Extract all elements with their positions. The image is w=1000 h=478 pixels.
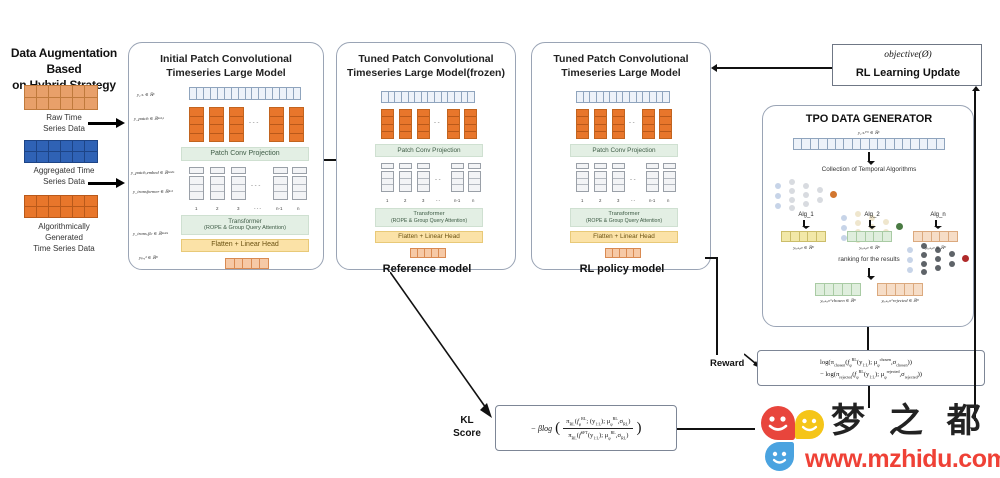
kl-formula-box[interactable]: − βlog ( πRL(fφRL; (y1:L); μφRL,σRL) πRL… bbox=[495, 405, 677, 451]
embed-column bbox=[417, 171, 430, 192]
rl-policy-model-panel[interactable]: Tuned Patch Convolutional Timeseries Lar… bbox=[531, 42, 711, 270]
embed-cap bbox=[292, 167, 307, 174]
raw-time-series-grid-row2 bbox=[24, 98, 98, 110]
tpo-data-generator-panel[interactable]: TPO DATA GENERATOR y₁:ʟᴾᴼ ∈ ℝᴸ Collectio… bbox=[762, 105, 974, 327]
patch-column bbox=[229, 107, 244, 142]
algorithmic-grid-row1 bbox=[24, 195, 98, 207]
input-tensor-label: y₁:ʟ ∈ ℝᴸ bbox=[137, 92, 155, 98]
nn-hidden-node bbox=[789, 205, 795, 211]
reward-formula-line2: − log(πrejected(fφRL(y1:L); μφrejected,σ… bbox=[820, 369, 922, 380]
embed-ellipsis: - - - bbox=[251, 183, 260, 189]
token-index: n bbox=[297, 206, 300, 211]
feedback-to-rl-update-arrow bbox=[974, 86, 980, 421]
embed-ellipsis: - - bbox=[630, 177, 636, 183]
tpo-input-label: y₁:ʟᴾᴼ ∈ ℝᴸ bbox=[763, 130, 975, 136]
embed-cap bbox=[381, 163, 394, 169]
embed-column bbox=[273, 176, 288, 200]
embed-cap bbox=[189, 167, 204, 174]
token-index: 3 bbox=[617, 198, 619, 203]
token-index-ellipsis: - - bbox=[631, 198, 635, 203]
raw-time-series-item bbox=[24, 85, 98, 110]
reward-caption: Reward bbox=[710, 358, 744, 369]
transformer-band-line2: (ROPE & Group Query Attention) bbox=[391, 218, 467, 225]
rejected-result-label: yᵣₑₛᵤₗₜ^rejected ∈ ℝᴴ bbox=[871, 298, 929, 304]
algorithm-2-name: Alg_2 bbox=[841, 212, 903, 218]
input-sequence-strip bbox=[381, 91, 475, 103]
algorithm-n-name: Alg_n bbox=[907, 212, 969, 218]
model-output-strip bbox=[605, 248, 641, 258]
algorithmic-label-line1: Algorithmically bbox=[0, 222, 128, 233]
nn-hidden-node bbox=[935, 265, 941, 271]
model-output-strip bbox=[225, 258, 269, 269]
rl-policy-model-title: Tuned Patch Convolutional Timeseries Lar… bbox=[532, 52, 710, 80]
policy-to-reward-vertical bbox=[716, 257, 718, 355]
algorithm-n-result-label: yᵣₑₛᵤₗₜ ∈ ℝᴴ bbox=[913, 245, 958, 251]
blue-face-glyph bbox=[765, 442, 794, 471]
patch-column bbox=[189, 107, 204, 142]
augmentation-to-model-arrow-top bbox=[88, 118, 125, 128]
embed-column bbox=[381, 171, 394, 192]
kl-formula: − βlog ( πRL(fφRL; (y1:L); μφRL,σRL) πRL… bbox=[531, 416, 642, 440]
algorithm-1-result-label: yᵣₑₛᵤₗₜ ∈ ℝᴴ bbox=[781, 245, 826, 251]
patch-columns-row: - - bbox=[381, 109, 475, 139]
patch-column bbox=[576, 109, 589, 139]
red-face-glyph bbox=[761, 406, 795, 440]
transformer-band-line2: (ROPE & Group Query Attention) bbox=[586, 218, 662, 225]
token-index-ellipsis: - - bbox=[436, 198, 440, 203]
embed-cap bbox=[399, 163, 412, 169]
watermark-yellow-face-icon bbox=[795, 410, 824, 439]
reference-model-title-line2: Timeseries Large Model(frozen) bbox=[337, 66, 515, 80]
nn-input-node bbox=[775, 193, 781, 199]
flatten-linear-head-band: Flatten + Linear Head bbox=[570, 231, 678, 243]
kl-to-right-connector bbox=[677, 428, 755, 430]
reference-model-title-line1: Tuned Patch Convolutional bbox=[337, 52, 515, 66]
token-index: n-1 bbox=[276, 206, 283, 211]
watermark-url-text: www.mzhidu.com bbox=[805, 447, 1000, 472]
embed-column bbox=[189, 176, 204, 200]
kl-caption-line2: Score bbox=[448, 428, 486, 441]
flatten-linear-head-band: Flatten + Linear Head bbox=[181, 239, 309, 252]
token-index: 3 bbox=[422, 198, 424, 203]
initial-model-title-line1: Initial Patch Convolutional bbox=[129, 52, 323, 66]
embed-column bbox=[594, 171, 607, 192]
tpo-input-strip bbox=[793, 138, 945, 150]
patch-column bbox=[381, 109, 394, 139]
kl-formula-fraction: πRL(fφRL; (y1:L); μφRL,σRL) πRL(fSFT(y1:… bbox=[563, 416, 633, 440]
rl-update-to-policy-arrow bbox=[711, 64, 837, 72]
embed-column bbox=[646, 171, 659, 192]
patch-column bbox=[447, 109, 460, 139]
embed-cap bbox=[612, 163, 625, 169]
nn-hidden-node bbox=[883, 219, 889, 225]
patch-conv-projection-band: Patch Conv Projection bbox=[375, 144, 483, 157]
algorithmic-time-series-item bbox=[24, 195, 98, 218]
patch-column bbox=[289, 107, 304, 142]
augmentation-title-line1: Data Augmentation Based bbox=[0, 45, 128, 77]
aggregated-grid-row2 bbox=[24, 152, 98, 163]
reward-formula-box[interactable]: log(πchosen(fφRL(y1:L); μφchosen,σchosen… bbox=[757, 350, 985, 386]
rejected-result-strip bbox=[877, 283, 923, 296]
embed-cap bbox=[210, 167, 225, 174]
algorithm-1-result-strip bbox=[781, 231, 826, 242]
algorithmic-label-line3: Time Series Data bbox=[0, 244, 128, 255]
nn-hidden-node bbox=[789, 197, 795, 203]
algorithm-n-result-strip bbox=[913, 231, 958, 242]
embed-column bbox=[210, 176, 225, 200]
patch-column bbox=[399, 109, 412, 139]
embed-column bbox=[451, 171, 464, 192]
reward-formula: log(πchosen(fφRL(y1:L); μφchosen,σchosen… bbox=[815, 355, 927, 382]
flatten-tensor-label: y_trans,flc ∈ ℝⁿˣᵈᵐ bbox=[133, 231, 168, 237]
nn-hidden-node bbox=[921, 269, 927, 275]
final-pred-tensor-label: yₚᵣₑᵈ ∈ ℝᴴ bbox=[139, 255, 158, 261]
nn-hidden-node bbox=[803, 192, 809, 198]
patch-column bbox=[642, 109, 655, 139]
data-augmentation-section: Data Augmentation Based on Hybrid Strate… bbox=[0, 40, 128, 280]
nn-hidden-node bbox=[789, 179, 795, 185]
embed-column bbox=[399, 171, 412, 192]
initial-model-panel[interactable]: Initial Patch Convolutional Timeseries L… bbox=[128, 42, 324, 270]
patch-ellipsis: - - bbox=[629, 120, 635, 126]
chosen-result-strip bbox=[815, 283, 861, 296]
nn-hidden-node bbox=[855, 220, 861, 226]
embed-cap bbox=[451, 163, 464, 169]
rl-learning-update-box[interactable]: objective(Ø) RL Learning Update bbox=[832, 44, 982, 86]
nn-output-node bbox=[830, 191, 837, 198]
transformer-band-line2: (ROPE & Group Query Attention) bbox=[204, 225, 286, 232]
token-index: 1 bbox=[386, 198, 388, 203]
algorithm-2-result-arrow bbox=[869, 220, 876, 229]
initial-model-title: Initial Patch Convolutional Timeseries L… bbox=[129, 52, 323, 80]
patch-embedding-columns: - - bbox=[576, 163, 676, 197]
patch-embedding-columns: - - - bbox=[189, 167, 307, 205]
token-index: 1 bbox=[581, 198, 583, 203]
kl-formula-prefix: − βlog bbox=[531, 424, 553, 433]
aggregated-label-line1: Aggregated Time bbox=[0, 166, 128, 177]
algorithmic-grid-row2 bbox=[24, 207, 98, 218]
patch-column bbox=[659, 109, 672, 139]
watermark-cn-text: 梦 之 都 bbox=[831, 404, 987, 438]
initial-model-title-line2: Timeseries Large Model bbox=[129, 66, 323, 80]
watermark-blue-face-icon bbox=[765, 442, 794, 471]
token-index: 2 bbox=[404, 198, 406, 203]
algorithm-2-result-label: yᵣₑₛᵤₗₜ ∈ ℝᴴ bbox=[847, 245, 892, 251]
embed-cap bbox=[417, 163, 430, 169]
reward-formula-line1: log(πchosen(fφRL(y1:L); μφchosen,σchosen… bbox=[820, 357, 922, 368]
kl-formula-denominator: πRL(fSFT(y1:L); μφRL,σRL) bbox=[565, 429, 631, 441]
watermark: 梦 之 都 www.mzhidu.com bbox=[757, 402, 1000, 478]
input-sequence-strip bbox=[189, 87, 301, 100]
aggregated-grid-row1 bbox=[24, 140, 98, 152]
reference-model-panel[interactable]: Tuned Patch Convolutional Timeseries Lar… bbox=[336, 42, 516, 270]
transformer-band-line1: Transformer bbox=[413, 211, 444, 218]
raw-time-series-grid bbox=[24, 85, 98, 98]
algorithm-1-name: Alg_1 bbox=[775, 212, 837, 218]
transformer-band-line1: Transformer bbox=[608, 211, 639, 218]
patch-column bbox=[594, 109, 607, 139]
tpo-title: TPO DATA GENERATOR bbox=[763, 113, 975, 125]
tpo-collection-label: Collection of Temporal Algorithms bbox=[763, 166, 975, 173]
embed-cap bbox=[576, 163, 589, 169]
algorithmic-time-series-label: Algorithmically Generated Time Series Da… bbox=[0, 222, 128, 254]
embed-column bbox=[612, 171, 625, 192]
ranking-down-arrow bbox=[868, 268, 875, 280]
algorithmic-label-line2: Generated bbox=[0, 233, 128, 244]
token-index: n-1 bbox=[454, 198, 460, 203]
transformer-band: Transformer (ROPE & Group Query Attentio… bbox=[181, 215, 309, 235]
reference-to-kl-arrow-icon bbox=[390, 272, 500, 422]
tpo-down-arrow-1 bbox=[868, 152, 875, 165]
embed-cap bbox=[663, 163, 676, 169]
embed-cap bbox=[468, 163, 481, 169]
algorithm-2-result-strip bbox=[847, 231, 892, 242]
embed-column bbox=[292, 176, 307, 200]
reference-to-kl-arrow bbox=[390, 272, 500, 427]
patch-column bbox=[464, 109, 477, 139]
patch-column bbox=[612, 109, 625, 139]
algorithm-n-result-arrow bbox=[935, 220, 942, 229]
token-index: 2 bbox=[216, 206, 219, 211]
transformer-band: Transformer (ROPE & Group Query Attentio… bbox=[375, 208, 483, 227]
chosen-result-label: yᵣₑₛᵤₗₜ^chosen ∈ ℝᴴ bbox=[809, 298, 867, 304]
nn-hidden-node bbox=[817, 187, 823, 193]
yellow-face-glyph bbox=[795, 410, 824, 439]
embed-column bbox=[231, 176, 246, 200]
rl-learning-update-title: RL Learning Update bbox=[833, 67, 983, 79]
nn-hidden-node bbox=[789, 188, 795, 194]
embed-ellipsis: - - bbox=[435, 177, 441, 183]
token-index: n bbox=[667, 198, 669, 203]
rl-policy-model-title-line2: Timeseries Large Model bbox=[532, 66, 710, 80]
token-index: 1 bbox=[195, 206, 198, 211]
kl-formula-paren-open: ( bbox=[555, 420, 560, 437]
token-index: n-1 bbox=[649, 198, 655, 203]
rl-policy-model-footer: RL policy model bbox=[532, 263, 712, 275]
embed-cap bbox=[594, 163, 607, 169]
patch-columns-row: - - bbox=[576, 109, 670, 139]
embed-column bbox=[576, 171, 589, 192]
token-index-ellipsis: - - - bbox=[254, 206, 261, 211]
embed-column bbox=[663, 171, 676, 192]
reference-model-title: Tuned Patch Convolutional Timeseries Lar… bbox=[337, 52, 515, 80]
embed-cap bbox=[231, 167, 246, 174]
rl-policy-model-title-line1: Tuned Patch Convolutional bbox=[532, 52, 710, 66]
patch-tensor-label: y_patch ∈ ℝⁿˣᴸᵖ bbox=[134, 116, 164, 122]
transformer-tensor-label: y_transformer ∈ ℝⁿˣ¹ bbox=[133, 189, 173, 195]
nn-input-node bbox=[775, 183, 781, 189]
algorithm-1-result-arrow bbox=[803, 220, 810, 229]
nn-output-node bbox=[896, 223, 903, 230]
patch-columns-row: - - - bbox=[189, 107, 301, 142]
augmentation-to-model-arrow-bottom bbox=[88, 178, 125, 188]
aggregated-time-series-item bbox=[24, 140, 98, 163]
flatten-linear-head-band: Flatten + Linear Head bbox=[375, 231, 483, 243]
input-sequence-strip bbox=[576, 91, 670, 103]
patch-column bbox=[269, 107, 284, 142]
embed-column bbox=[468, 171, 481, 192]
token-index: n bbox=[472, 198, 474, 203]
patch-embedding-columns: - - bbox=[381, 163, 481, 197]
algorithm-network-1 bbox=[775, 178, 837, 210]
kl-formula-paren-close: ) bbox=[636, 420, 641, 437]
patch-ellipsis: - - - bbox=[249, 120, 258, 126]
model-output-strip bbox=[410, 248, 446, 258]
transformer-band-line1: Transformer bbox=[228, 218, 261, 226]
token-index: 2 bbox=[599, 198, 601, 203]
rl-objective-label: objective(Ø) bbox=[833, 50, 983, 60]
nn-hidden-node bbox=[803, 201, 809, 207]
kl-formula-numerator: πRL(fφRL; (y1:L); μφRL,σRL) bbox=[563, 416, 633, 429]
embed-cap bbox=[646, 163, 659, 169]
nn-hidden-node bbox=[803, 183, 809, 189]
nn-input-node bbox=[775, 203, 781, 209]
patch-embed-tensor-label: y_patch,embed ∈ ℝⁿˣᵈᵐ bbox=[131, 170, 174, 176]
transformer-band: Transformer (ROPE & Group Query Attentio… bbox=[570, 208, 678, 227]
patch-column bbox=[209, 107, 224, 142]
patch-ellipsis: - - bbox=[434, 120, 440, 126]
nn-input-node bbox=[907, 267, 913, 273]
patch-conv-projection-band: Patch Conv Projection bbox=[181, 147, 309, 161]
watermark-red-face-icon bbox=[761, 406, 795, 440]
ranking-label: ranking for the results bbox=[763, 256, 975, 263]
embed-cap bbox=[273, 167, 288, 174]
patch-conv-projection-band: Patch Conv Projection bbox=[570, 144, 678, 157]
token-index: 3 bbox=[237, 206, 240, 211]
nn-hidden-node bbox=[817, 197, 823, 203]
patch-column bbox=[417, 109, 430, 139]
